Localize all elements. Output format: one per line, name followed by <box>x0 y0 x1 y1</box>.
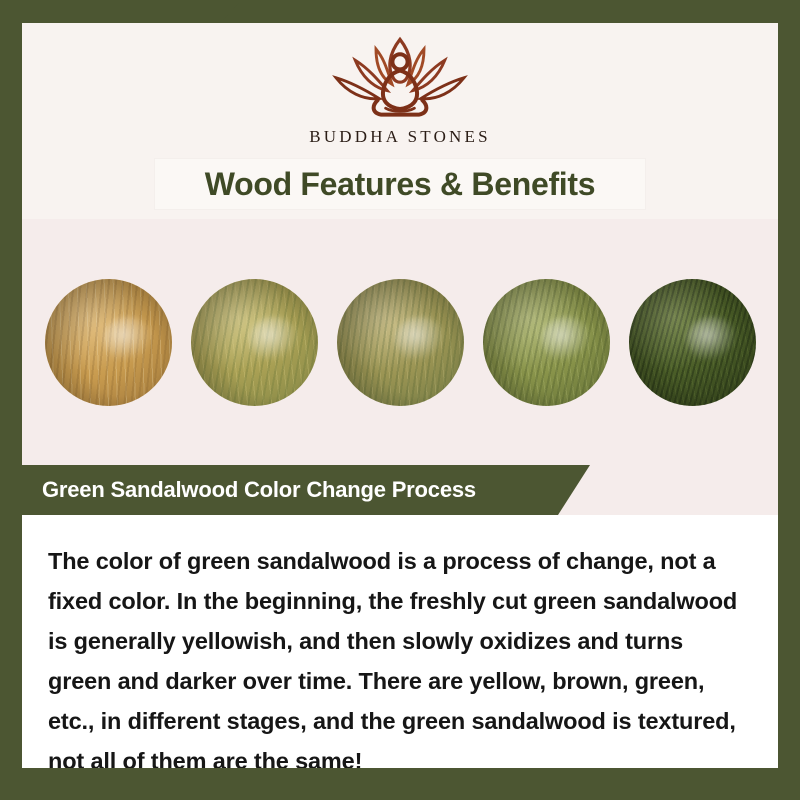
bead-highlight <box>395 317 446 363</box>
bead-highlight <box>249 317 300 363</box>
frame-right-bar <box>778 0 800 800</box>
frame-left-bar <box>0 205 22 800</box>
section-banner-row: Green Sandalwood Color Change Process <box>22 465 778 515</box>
bead-stage-5 <box>629 279 756 406</box>
bead-highlight <box>687 317 738 363</box>
brand-header: BUDDHA STONES Wood Features & Benefits <box>22 23 778 219</box>
page-title-box: Wood Features & Benefits <box>155 159 645 209</box>
bead-stage-3 <box>337 279 464 406</box>
section-banner: Green Sandalwood Color Change Process <box>22 465 590 515</box>
page-title: Wood Features & Benefits <box>205 166 596 203</box>
bead-stage-1 <box>45 279 172 406</box>
bead-stage-2 <box>191 279 318 406</box>
content-sheet: BUDDHA STONES Wood Features & Benefits <box>22 23 778 768</box>
lotus-meditation-icon <box>320 33 480 125</box>
description-block: The color of green sandalwood is a proce… <box>22 515 778 768</box>
bead-gallery <box>22 219 778 465</box>
frame-bottom-bar <box>0 768 615 800</box>
brand-name: BUDDHA STONES <box>309 127 491 147</box>
bead-highlight <box>103 317 154 363</box>
description-paragraph: The color of green sandalwood is a proce… <box>48 541 748 768</box>
bead-highlight <box>541 317 592 363</box>
frame-top-bar <box>220 0 800 23</box>
bead-stage-4 <box>483 279 610 406</box>
section-banner-label: Green Sandalwood Color Change Process <box>22 477 476 503</box>
poster-canvas: BUDDHA STONES Wood Features & Benefits <box>0 0 800 800</box>
